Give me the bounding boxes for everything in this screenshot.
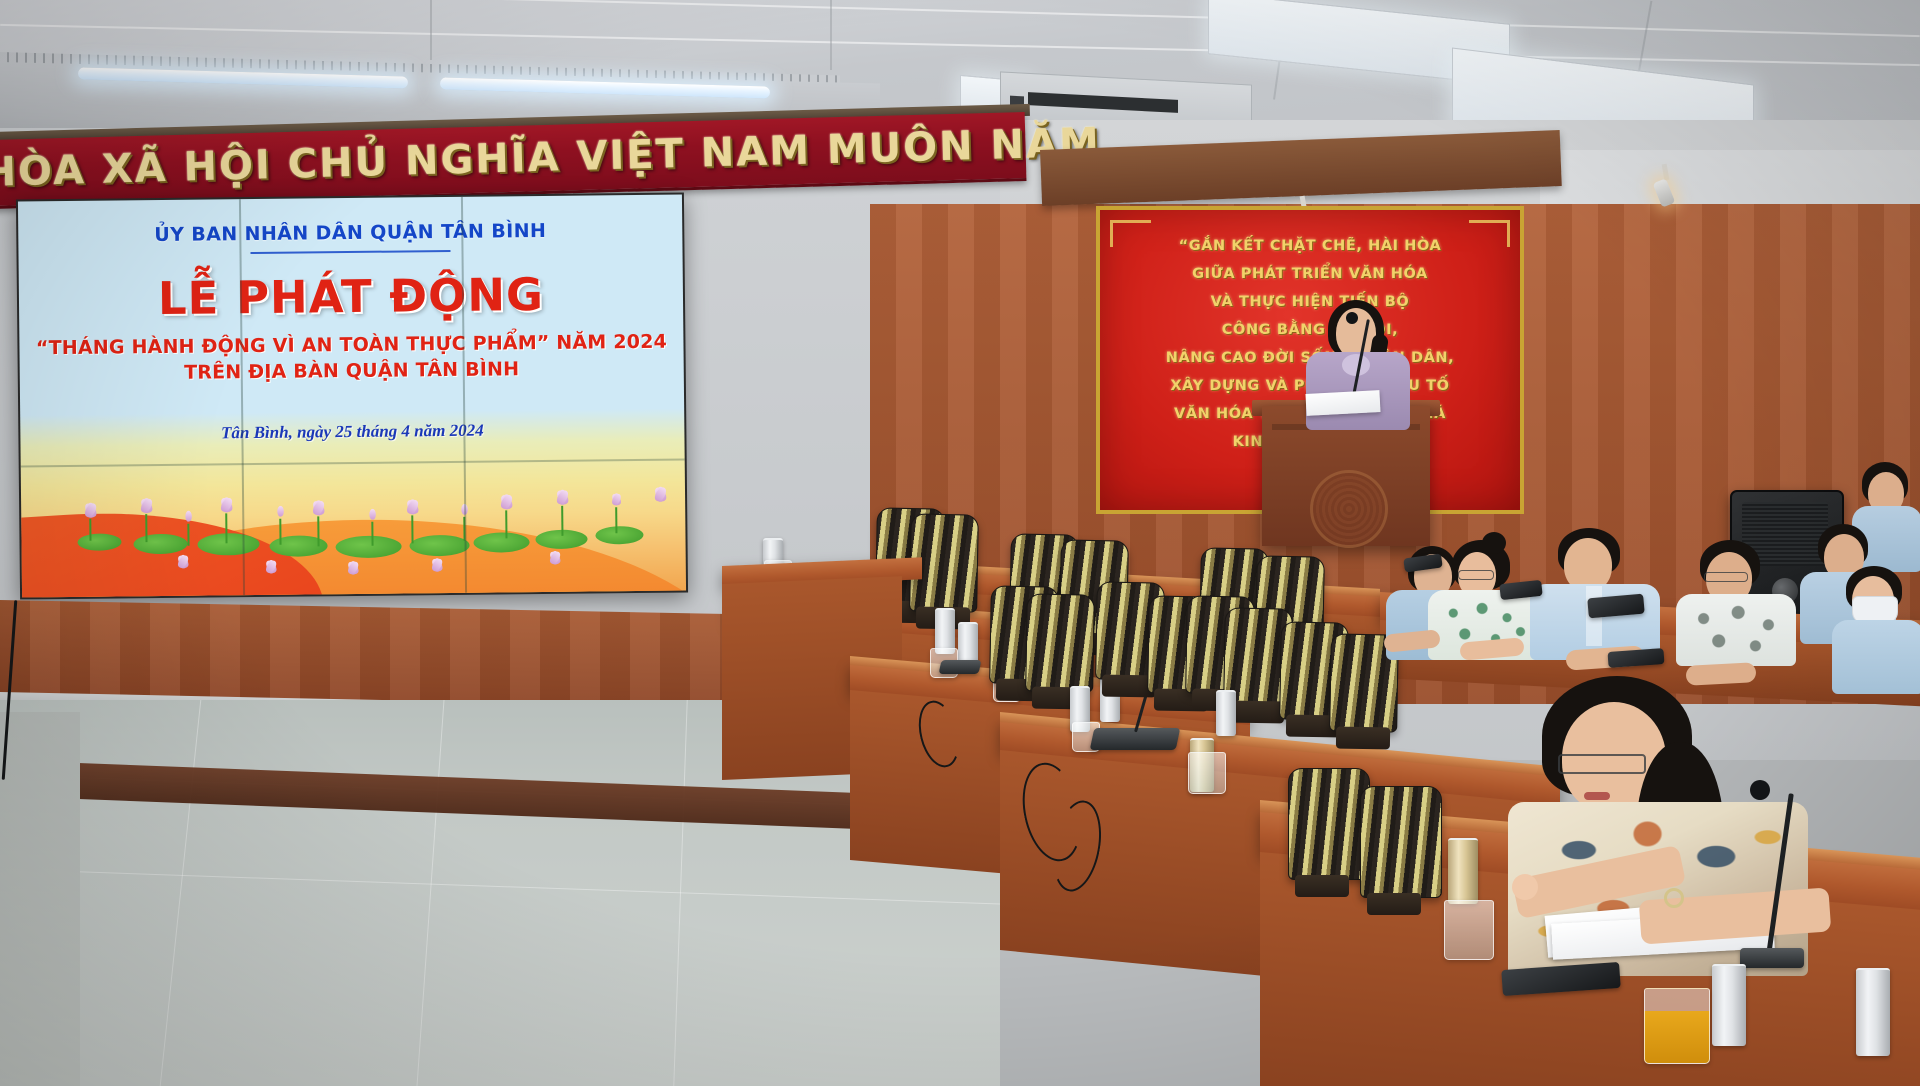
lotus-stem bbox=[615, 507, 617, 533]
beverage-can bbox=[1712, 964, 1746, 1046]
microphone-base bbox=[1740, 948, 1804, 968]
microphone-base bbox=[939, 660, 982, 674]
lotus-stem bbox=[411, 515, 413, 543]
lotus-stem bbox=[371, 522, 373, 546]
beverage-can bbox=[1448, 838, 1478, 904]
screen-subtitle-line1: “THÁNG HÀNH ĐỘNG VÌ AN TOÀN THỰC PHẨM” N… bbox=[19, 331, 683, 360]
screen-divider-rule bbox=[250, 250, 450, 254]
attendee-with-mask bbox=[1832, 566, 1920, 694]
glasses-icon bbox=[1558, 754, 1646, 774]
water-glass bbox=[1188, 752, 1226, 794]
floor-tile-seam bbox=[0, 869, 1000, 905]
hand bbox=[1512, 874, 1538, 900]
lotus-flower-icon bbox=[545, 553, 565, 569]
conference-chair bbox=[1025, 593, 1095, 692]
lotus-flower-icon bbox=[79, 505, 101, 523]
lips bbox=[1584, 792, 1610, 800]
lotus-flower-icon bbox=[401, 501, 423, 519]
conference-chair bbox=[1360, 786, 1442, 898]
lotus-flower-icon bbox=[135, 500, 157, 518]
lotus-flower-icon bbox=[343, 563, 363, 579]
bracelet bbox=[1664, 888, 1684, 908]
lotus-flower-icon bbox=[307, 502, 329, 520]
conference-hall-scene: HÒA XÃ HỘI CHỦ NGHĨA VIỆT NAM MUÔN NĂM bbox=[0, 0, 1920, 1086]
lotus-bud-icon bbox=[364, 510, 380, 523]
lotus-stem bbox=[145, 514, 147, 542]
lotus-stem bbox=[505, 510, 507, 538]
hair-bun bbox=[1482, 532, 1506, 554]
ceiling-tile-seam bbox=[430, 0, 432, 60]
lotus-bud-icon bbox=[272, 507, 288, 520]
lotus-stem bbox=[561, 506, 563, 536]
attendee bbox=[1676, 540, 1796, 666]
screen-subtitle-line2: TRÊN ĐỊA BÀN QUẬN TÂN BÌNH bbox=[20, 357, 684, 386]
lotus-flower-icon bbox=[607, 495, 625, 510]
backdrop-slogan-line: GIỮA PHÁT TRIỂN VĂN HÓA bbox=[1100, 266, 1520, 282]
screen-organization-text: ỦY BAN NHÂN DÂN QUẬN TÂN BÌNH bbox=[18, 219, 682, 248]
lotus-flower-icon bbox=[551, 492, 573, 510]
conference-chair bbox=[1288, 768, 1370, 880]
glasses-icon bbox=[1458, 570, 1494, 580]
tea-glass bbox=[1644, 988, 1710, 1064]
shirt-print-pattern bbox=[1682, 600, 1790, 662]
lotus-flower-icon bbox=[495, 496, 517, 514]
microphone-head bbox=[1750, 780, 1770, 800]
lotus-stem bbox=[187, 524, 189, 546]
backdrop-slogan-line: “GẮN KẾT CHẶT CHẼ, HÀI HÒA bbox=[1100, 238, 1520, 254]
lotus-stem bbox=[279, 519, 281, 545]
lotus-stem bbox=[317, 516, 319, 546]
lotus-flower-icon bbox=[649, 489, 671, 507]
lotus-flower-icon bbox=[173, 557, 193, 573]
beverage-can bbox=[1856, 968, 1890, 1056]
floor-tile-seam bbox=[160, 700, 202, 1086]
torso bbox=[1832, 620, 1920, 694]
lotus-bud-icon bbox=[180, 512, 196, 525]
lily-pad-icon bbox=[595, 526, 643, 545]
beverage-can bbox=[1216, 690, 1236, 736]
lotus-flower-icon bbox=[215, 499, 237, 517]
lotus-flower-icon bbox=[261, 562, 281, 578]
screen-title: LỄ PHÁT ĐỘNG bbox=[19, 267, 684, 327]
floor-left-edge bbox=[0, 712, 80, 1086]
led-video-wall: ỦY BAN NHÂN DÂN QUẬN TÂN BÌNH LỄ PHÁT ĐỘ… bbox=[16, 193, 688, 600]
podium-microphone-head bbox=[1346, 312, 1358, 324]
speech-papers bbox=[1305, 390, 1380, 416]
glasses-icon bbox=[1704, 572, 1748, 582]
lotus-flower-icon bbox=[427, 560, 447, 576]
podium-emblem bbox=[1310, 470, 1388, 548]
lotus-stem bbox=[225, 513, 227, 543]
water-glass bbox=[1444, 900, 1494, 960]
led-screen-content: ỦY BAN NHÂN DÂN QUẬN TÂN BÌNH LỄ PHÁT ĐỘ… bbox=[18, 195, 686, 598]
ceiling-tile-seam bbox=[830, 0, 832, 70]
floor-tile-seam bbox=[417, 700, 445, 1086]
